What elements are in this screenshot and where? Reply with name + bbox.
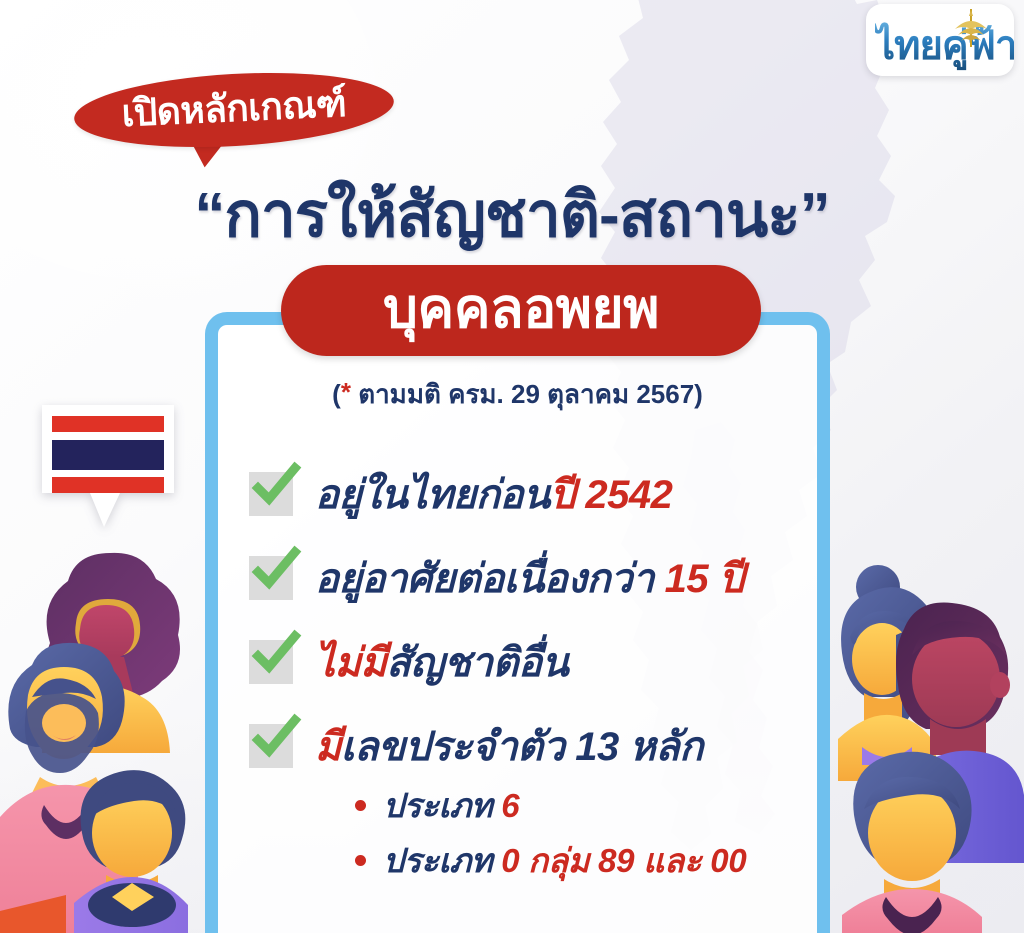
bullet-dot-icon: [355, 800, 366, 811]
criteria-checklist: อยู่ในไทยก่อนปี 2542 อยู่อาศัยต่อเนื่องก…: [249, 452, 809, 788]
sub-bullet-item: ประเภท 0 กลุ่ม 89 และ 00: [355, 833, 825, 888]
criteria-item-text: อยู่อาศัยต่อเนื่องกว่า 15 ปี: [315, 546, 744, 610]
royal-umbrella-icon: [949, 7, 993, 49]
subtitle-prefix: (: [332, 379, 341, 409]
criteria-text-part: อยู่อาศัยต่อเนื่องกว่า: [315, 557, 665, 601]
asterisk-marker: *: [341, 377, 351, 407]
sub-bullet-text-part: ประเภท: [383, 842, 501, 879]
criteria-item-text: อยู่ในไทยก่อนปี 2542: [315, 462, 672, 526]
subtitle-text: ตามมติ ครม. 29 ตุลาคม 2567): [351, 379, 703, 409]
criteria-text-highlight: ไม่มี: [315, 641, 386, 685]
criteria-item: ไม่มีสัญชาติอื่น: [249, 620, 809, 704]
sub-bullet-list: ประเภท 6 ประเภท 0 กลุ่ม 89 และ 00: [355, 778, 825, 888]
criteria-text-highlight: 15 ปี: [665, 557, 744, 601]
criteria-item-text: มีเลขประจำตัว 13 หลัก: [315, 714, 703, 778]
sub-bullet-text-part: ประเภท: [383, 787, 501, 824]
category-pill-label: บุคคลอพยพ: [383, 265, 659, 352]
criteria-text-part: เลขประจำตัว 13 หลัก: [341, 725, 703, 769]
checkbox-checked-icon: [249, 556, 293, 600]
criteria-text-part: สัญชาติอื่น: [386, 641, 568, 685]
criteria-text-highlight: มี: [315, 725, 341, 769]
people-group-left-illustration: [0, 533, 215, 933]
sub-bullet-text-highlight: 0 กลุ่ม 89 และ 00: [501, 842, 746, 879]
kicker-label: เปิดหลักเกณฑ์: [72, 65, 395, 151]
thai-flag-pin-icon: [38, 403, 178, 528]
kicker-speech-bubble: เปิดหลักเกณฑ์: [74, 74, 394, 146]
checkbox-checked-icon: [249, 640, 293, 684]
thai-khu-fah-logo: ไทยคู่ฟ้า: [866, 4, 1014, 76]
criteria-text-part: อยู่ในไทยก่อน: [315, 473, 550, 517]
criteria-item: อยู่อาศัยต่อเนื่องกว่า 15 ปี: [249, 536, 809, 620]
people-group-right-illustration: [828, 533, 1024, 933]
infographic-poster: ไทยคู่ฟ้า เปิดหลักเกณฑ์ “การให้สัญชาติ-ส…: [0, 0, 1024, 933]
subtitle: (* ตามมติ ครม. 29 ตุลาคม 2567): [205, 374, 830, 415]
sub-bullet-text: ประเภท 0 กลุ่ม 89 และ 00: [383, 834, 746, 887]
checkbox-checked-icon: [249, 724, 293, 768]
page-title: “การให้สัญชาติ-สถานะ”: [0, 166, 1024, 264]
category-pill: บุคคลอพยพ: [281, 265, 761, 356]
criteria-item: อยู่ในไทยก่อนปี 2542: [249, 452, 809, 536]
sub-bullet-text: ประเภท 6: [383, 779, 519, 832]
criteria-item: มีเลขประจำตัว 13 หลัก: [249, 704, 809, 788]
logo-text: ไทยคู่ฟ้า: [875, 13, 1014, 76]
checkbox-checked-icon: [249, 472, 293, 516]
sub-bullet-item: ประเภท 6: [355, 778, 825, 833]
sub-bullet-text-highlight: 6: [501, 787, 519, 824]
criteria-item-text: ไม่มีสัญชาติอื่น: [315, 630, 568, 694]
criteria-text-highlight: ปี 2542: [550, 473, 673, 517]
bullet-dot-icon: [355, 855, 366, 866]
